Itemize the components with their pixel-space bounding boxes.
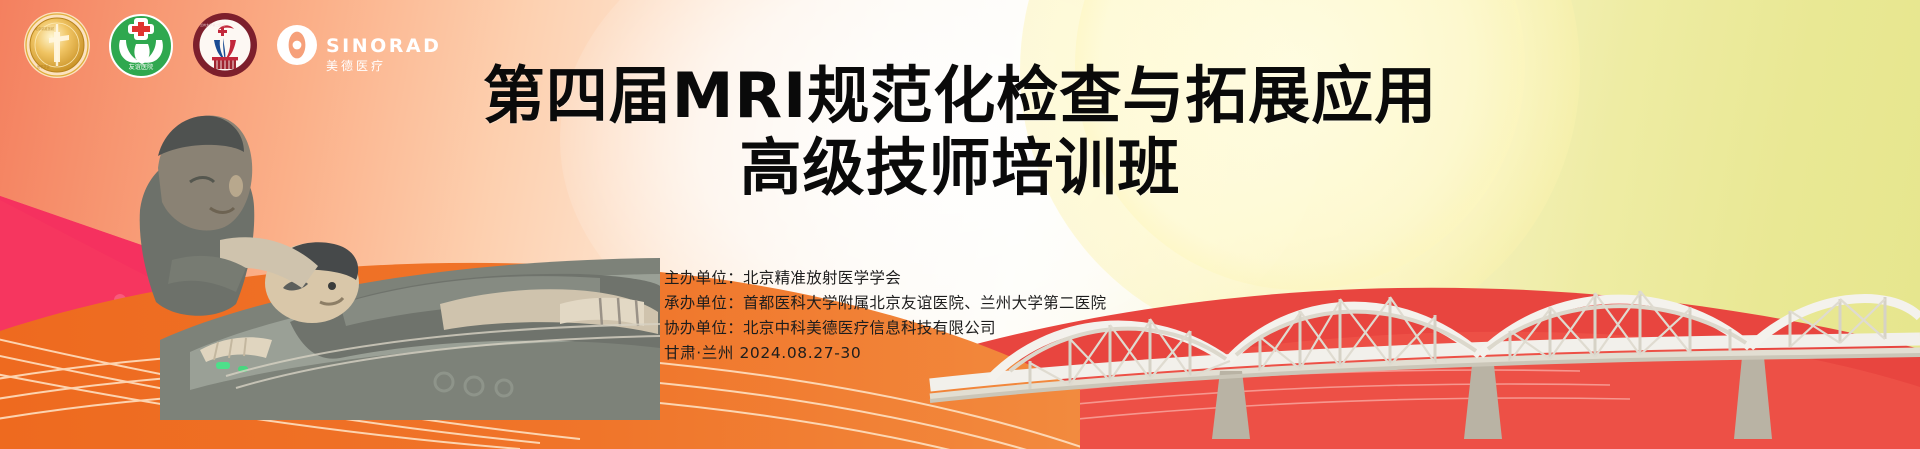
beijing-friendship-hospital-logo: 北京 友谊医院 bbox=[106, 10, 176, 80]
mri-patient-and-technician-illustration bbox=[40, 90, 660, 420]
sinorad-mark-icon bbox=[274, 22, 320, 68]
detail-organizer: 主办单位：北京精准放射医学学会 bbox=[664, 266, 1106, 291]
detail-co-organizer: 协办单位：北京中科美德医疗信息科技有限公司 bbox=[664, 316, 1106, 341]
svg-text:北京精准放射: 北京精准放射 bbox=[35, 26, 55, 31]
event-details: 主办单位：北京精准放射医学学会 承办单位：首都医科大学附属北京友谊医院、兰州大学… bbox=[664, 266, 1106, 366]
conference-banner: 北京精准放射 医学学会 北京 友谊医院 bbox=[0, 0, 1920, 449]
gold-medallion-logo: 北京精准放射 医学学会 bbox=[22, 10, 92, 80]
svg-text:医学学会: 医学学会 bbox=[37, 64, 51, 69]
detail-venue-date: 甘肃·兰州 2024.08.27-30 bbox=[664, 341, 1106, 366]
svg-text:兰州大学第二医院: 兰州大学第二医院 bbox=[200, 22, 225, 27]
sinorad-wordmark: SINORAD bbox=[326, 37, 441, 56]
logo-line-1: 北京 bbox=[135, 53, 147, 61]
detail-host: 承办单位：首都医科大学附属北京友谊医院、兰州大学第二医院 bbox=[664, 291, 1106, 316]
lanzhou-university-second-hospital-logo: 兰州大学第二医院 bbox=[190, 10, 260, 80]
organizer-logo-row: 北京精准放射 医学学会 北京 友谊医院 bbox=[22, 6, 441, 84]
logo-line-2: 友谊医院 bbox=[129, 63, 154, 71]
sinorad-subtext: 美德医疗 bbox=[326, 60, 441, 72]
sinorad-logo: SINORAD 美德医疗 bbox=[274, 10, 441, 80]
